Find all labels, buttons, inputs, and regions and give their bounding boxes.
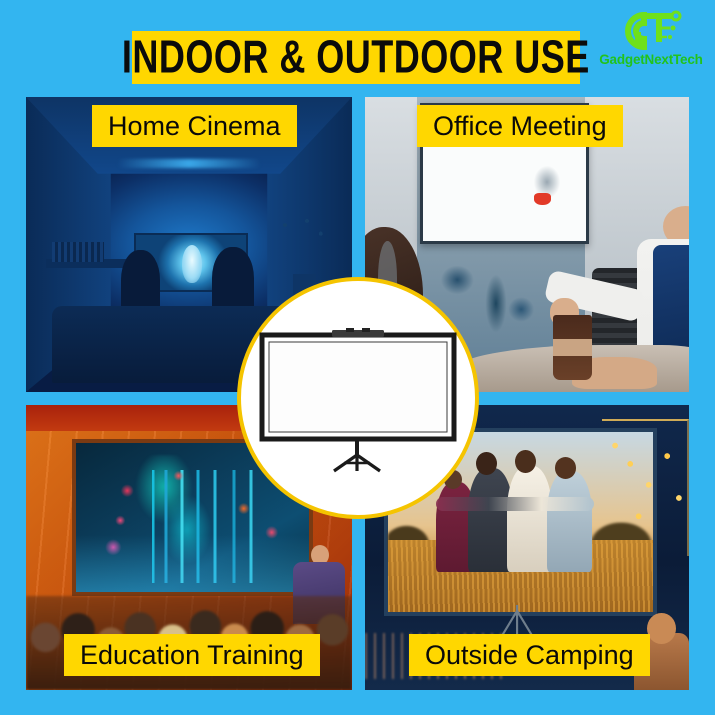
tile-label-home-cinema: Home Cinema — [92, 105, 297, 147]
title-banner: INDOOR & OUTDOOR USE — [132, 31, 580, 84]
brand-name: GadgetNextTech — [592, 52, 710, 67]
projector-screen-tripod-icon — [258, 323, 458, 473]
tile-label-office-meeting: Office Meeting — [417, 105, 623, 147]
brand-lockup: GadgetNextTech — [592, 8, 710, 86]
tile-label-education-training: Education Training — [64, 634, 320, 676]
tile-label-outside-camping: Outside Camping — [409, 634, 650, 676]
gadget-g-circuit-logo-icon — [614, 8, 688, 54]
center-product-medallion[interactable] — [237, 277, 479, 519]
page-title: INDOOR & OUTDOOR USE — [122, 35, 590, 81]
header: INDOOR & OUTDOOR USE GadgetNextTech — [0, 0, 715, 95]
